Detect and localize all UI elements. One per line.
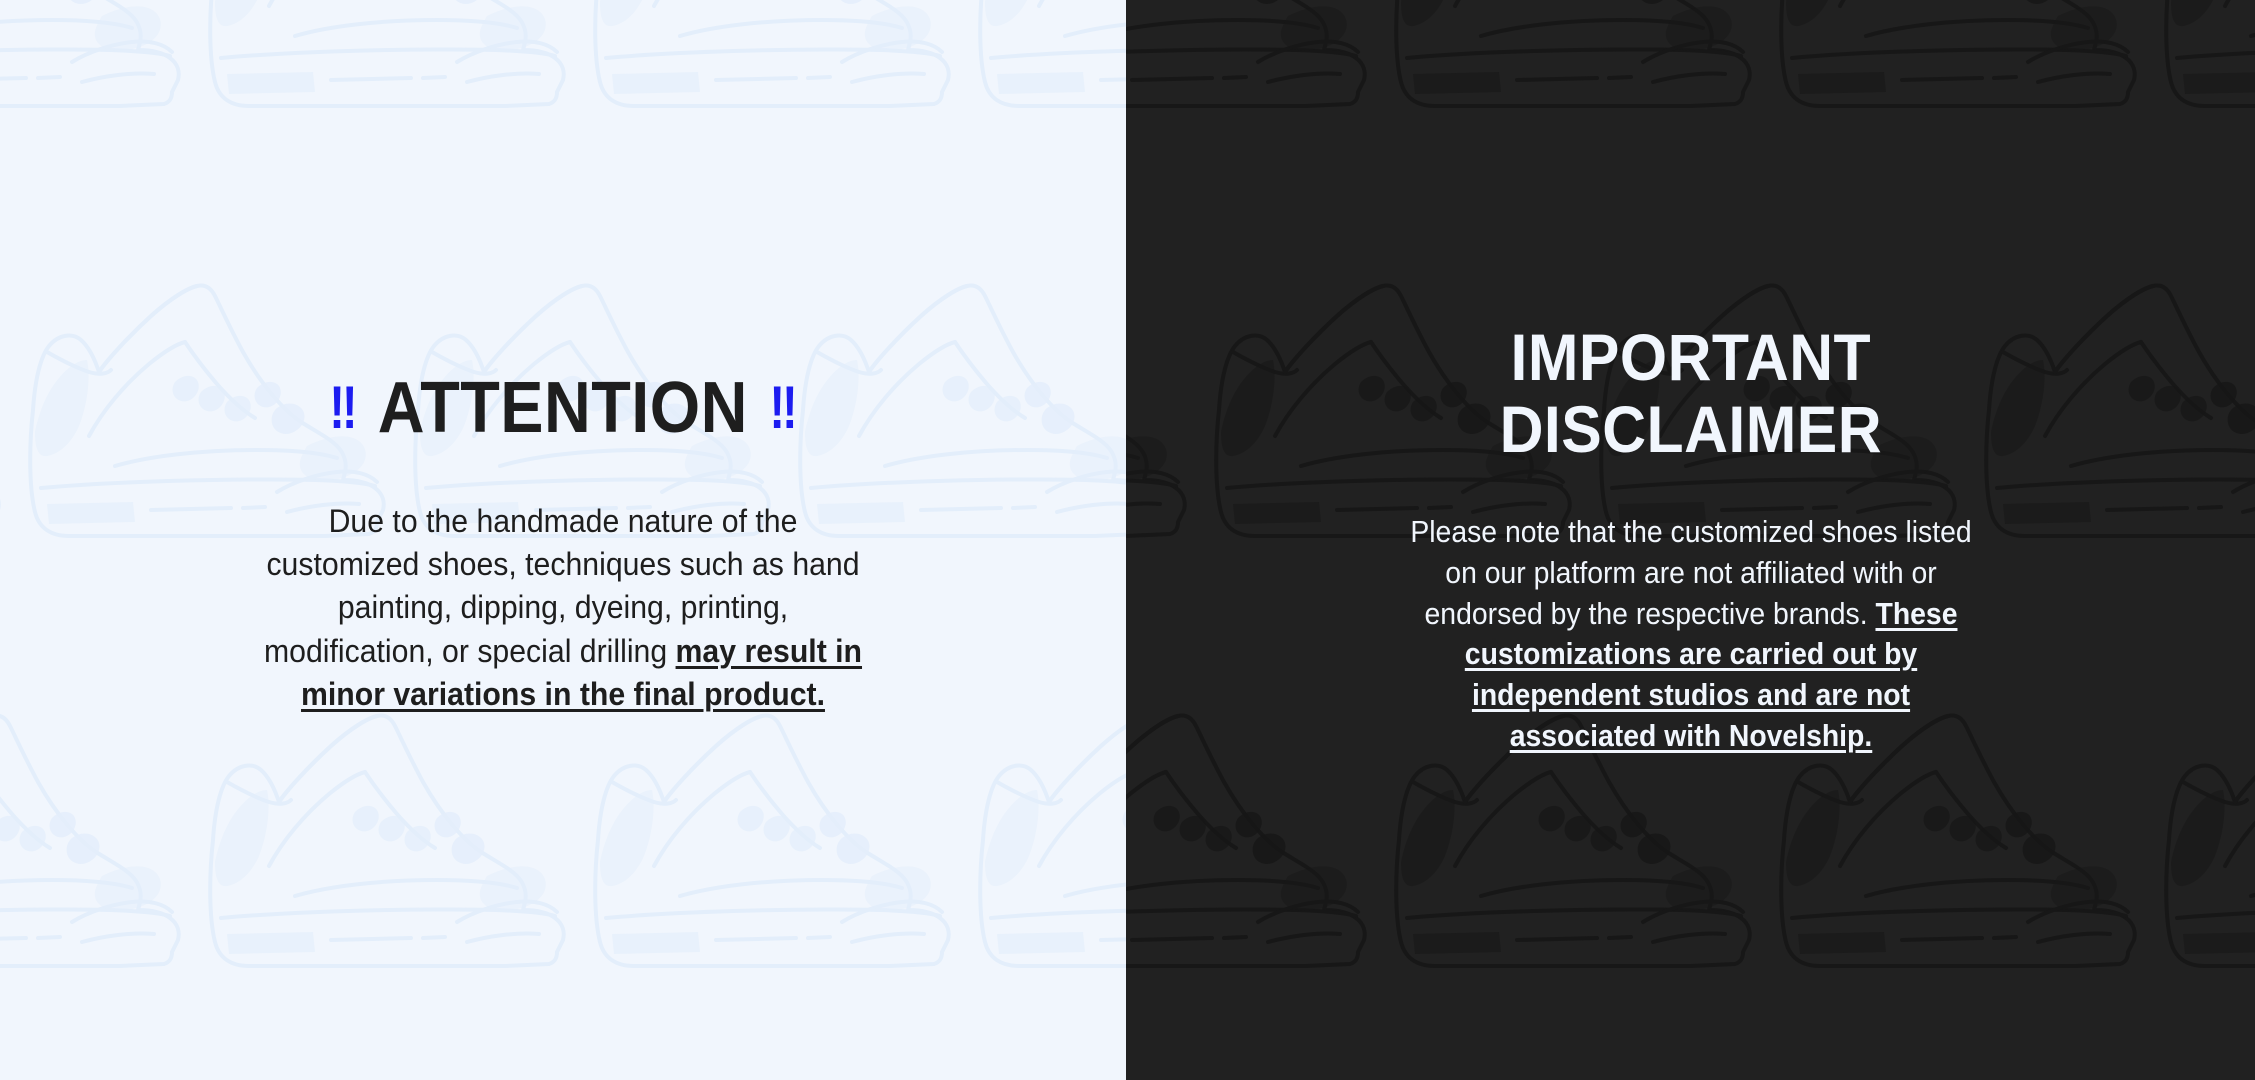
disclaimer-content: IMPORTANT DISCLAIMER Please note that th…	[1126, 0, 2255, 757]
attention-content: ‼ATTENTION‼ Due to the handmade nature o…	[0, 0, 1126, 716]
attention-heading: ‼ATTENTION‼	[327, 0, 798, 444]
disclaimer-heading-line2: DISCLAIMER	[1499, 394, 1881, 466]
attention-body: Due to the handmade nature of the custom…	[256, 444, 870, 716]
split-notice-board: ‼ATTENTION‼ Due to the handmade nature o…	[0, 0, 2255, 1080]
attention-panel: ‼ATTENTION‼ Due to the handmade nature o…	[0, 0, 1126, 1080]
disclaimer-body: Please note that the customized shoes li…	[1402, 466, 1979, 757]
disclaimer-panel: IMPORTANT DISCLAIMER Please note that th…	[1126, 0, 2255, 1080]
double-exclamation-icon-right: ‼	[770, 378, 797, 438]
double-exclamation-icon-left: ‼	[330, 378, 357, 438]
disclaimer-heading-line1: IMPORTANT	[1499, 322, 1881, 394]
disclaimer-heading: IMPORTANT DISCLAIMER	[1499, 0, 1881, 466]
attention-heading-word: ATTENTION	[358, 368, 768, 448]
